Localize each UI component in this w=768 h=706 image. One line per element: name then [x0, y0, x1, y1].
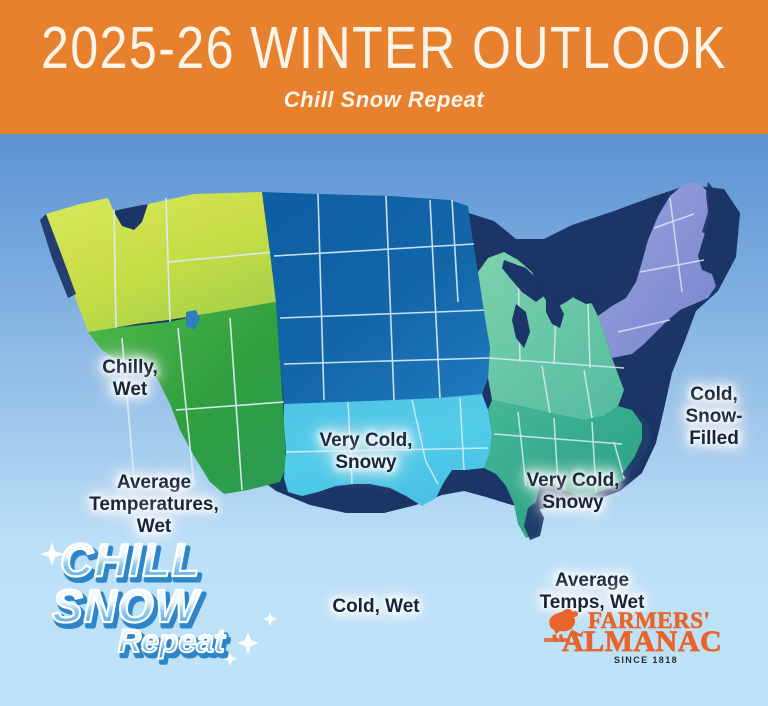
chill-snow-repeat-logo: CHILL CHILL SNOW SNOW Repeat Repeat	[34, 528, 284, 668]
forecast-map: Chilly, Wet Average Temperatures, Wet Ve…	[18, 152, 758, 552]
region-southwest	[88, 302, 286, 494]
region-northern-plains	[262, 192, 490, 404]
farmers-almanac-logo: FARMERS' ALMANAC SINCE 1818	[540, 604, 740, 666]
svg-text:CHILL: CHILL	[60, 534, 200, 586]
page-title: 2025-26 WINTER OUTLOOK	[41, 19, 727, 78]
winter-outlook-infographic: 2025-26 WINTER OUTLOOK Chill Snow Repeat	[0, 0, 768, 706]
brand-tagline: SINCE 1818	[614, 655, 678, 665]
brand-line2: ALMANAC	[562, 625, 722, 658]
header-banner: 2025-26 WINTER OUTLOOK Chill Snow Repeat	[0, 0, 768, 134]
chill-logo-line3: Repeat Repeat	[118, 623, 229, 663]
svg-text:Repeat: Repeat	[118, 623, 226, 659]
page-subtitle: Chill Snow Repeat	[284, 89, 484, 111]
